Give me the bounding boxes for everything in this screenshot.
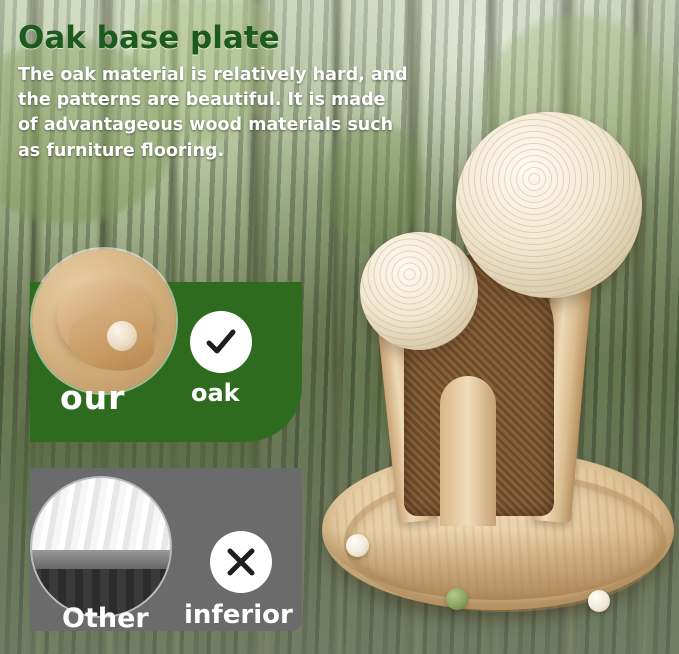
page-title: Oak base plate xyxy=(18,22,438,55)
product-banner-image: Oak base plate The oak material is relat… xyxy=(0,0,679,654)
felt-ball-white-right xyxy=(588,590,610,612)
inferior-material-photo xyxy=(32,478,170,616)
label-our-brand: our xyxy=(60,378,125,417)
inferior-top-layer xyxy=(32,478,170,555)
sisal-ball-large xyxy=(456,112,642,298)
label-other-material: inferior xyxy=(184,600,293,630)
label-our-material: oak xyxy=(191,379,240,407)
felt-ball-green-center xyxy=(446,588,468,610)
label-other-brand: Other xyxy=(62,603,149,634)
oak-material-photo xyxy=(32,249,176,393)
cross-icon xyxy=(224,545,258,579)
product-photo xyxy=(300,100,679,654)
cross-badge xyxy=(210,531,272,593)
check-icon xyxy=(203,324,239,360)
sisal-ball-small xyxy=(360,232,478,350)
check-badge xyxy=(190,311,252,373)
arch-center-notch xyxy=(440,376,496,526)
felt-ball-white-left xyxy=(346,534,369,557)
oak-photo-ball xyxy=(107,321,137,351)
